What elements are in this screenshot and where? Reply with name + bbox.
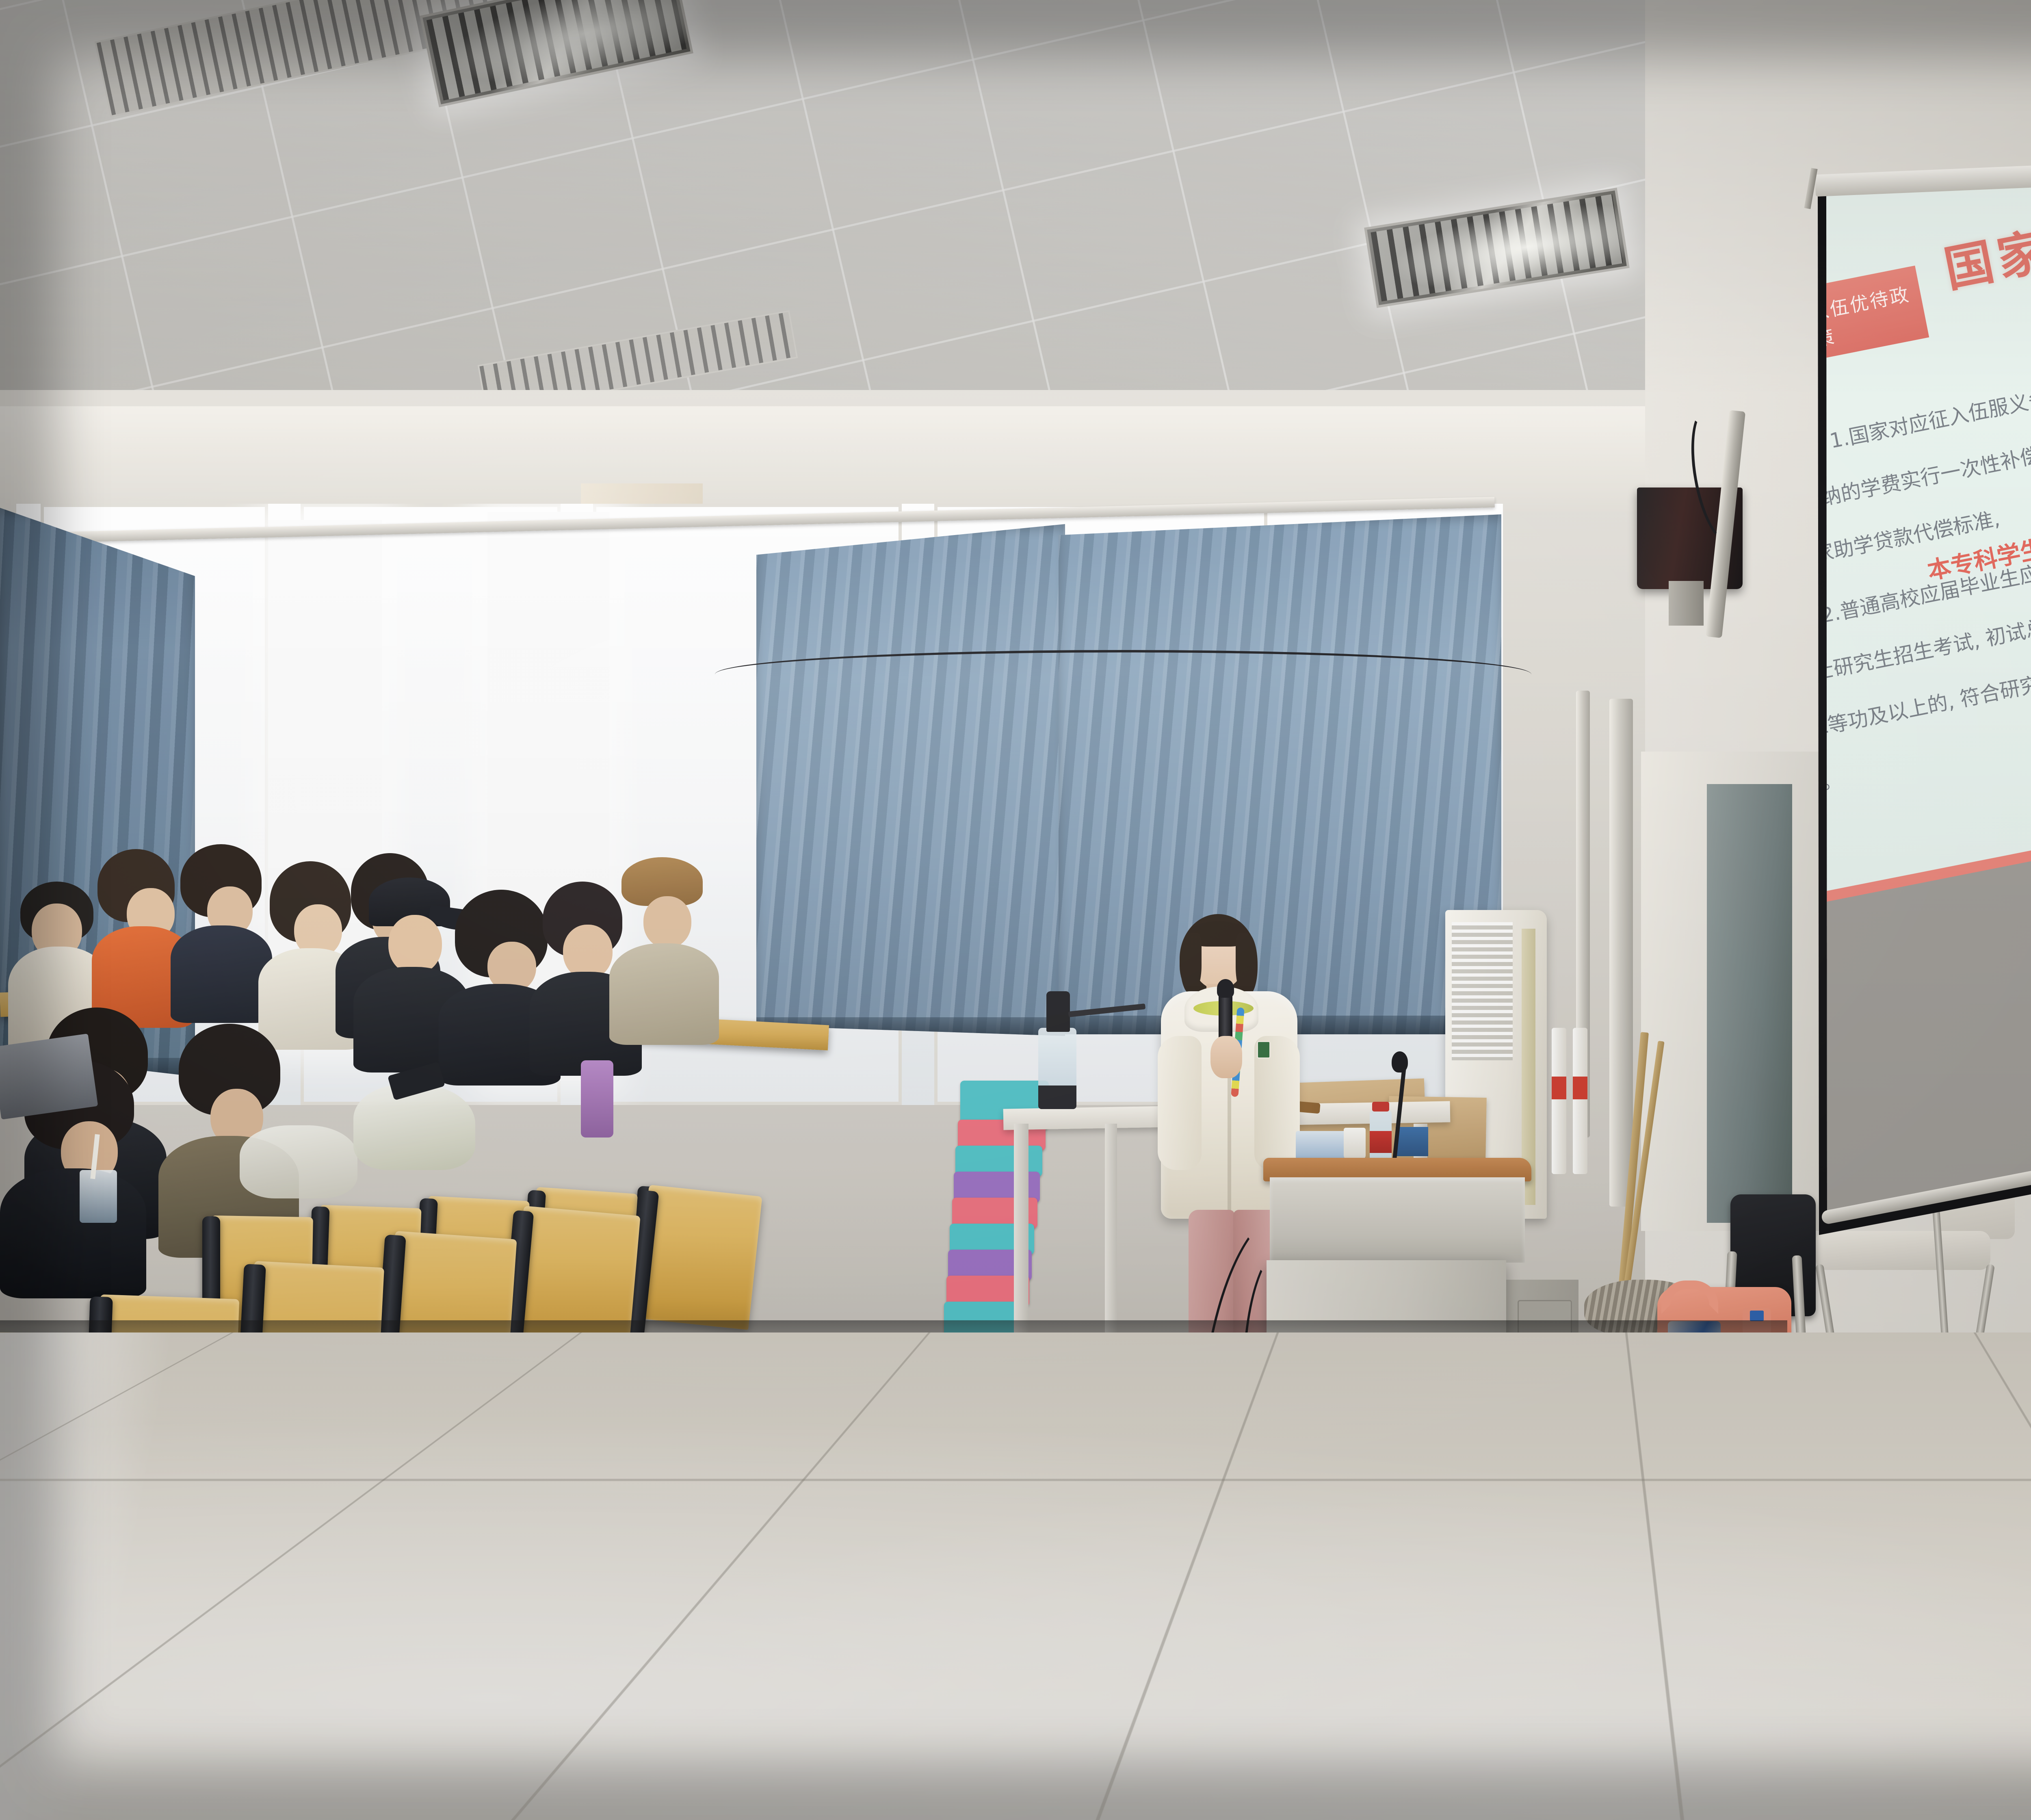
slide-title: 国家政策	[1938, 190, 2031, 301]
slide-section-tab: 入伍优待政策	[1795, 266, 1929, 361]
floor-reflection-sheen	[0, 1332, 2031, 1820]
table-leg	[1014, 1124, 1028, 1351]
extinguisher-label	[1552, 1077, 1566, 1099]
student-with-beret	[605, 857, 727, 1040]
fire-extinguisher	[1552, 1028, 1566, 1174]
floor	[0, 1332, 2031, 1820]
presenter-left-arm	[1158, 1036, 1202, 1170]
presenter-hair-right	[1236, 933, 1258, 996]
wall-upper-strip	[0, 406, 1747, 512]
paper-cup	[1344, 1128, 1366, 1159]
water-bottle-label	[1370, 1131, 1392, 1153]
classroom-photo-scene: 入伍优待政策 国家政策 1.国家对应征入伍服义务兵役的高校学生, 在入伍时对其在…	[0, 0, 2031, 1820]
air-conditioner-grille	[1452, 922, 1513, 1060]
spray-bottle-base	[1038, 1085, 1076, 1109]
hanging-cable	[715, 650, 1531, 699]
student-torso	[609, 943, 719, 1045]
water-bottle-cap	[1372, 1102, 1389, 1111]
fire-extinguisher	[1573, 1028, 1587, 1174]
screen-surface: 入伍优待政策 国家政策 1.国家对应征入伍服义务兵役的高校学生, 在入伍时对其在…	[1747, 146, 2031, 1536]
presenter-hair-left	[1180, 933, 1202, 994]
water-bottle	[581, 1060, 613, 1137]
tissue-box	[1296, 1131, 1348, 1159]
wall-pipe	[1609, 699, 1633, 1207]
presenter-badge	[1257, 1041, 1271, 1059]
extinguisher-label	[1573, 1077, 1587, 1099]
presenter-hands	[1210, 1036, 1242, 1078]
slide: 入伍优待政策 国家政策 1.国家对应征入伍服义务兵役的高校学生, 在入伍时对其在…	[1747, 146, 2031, 1536]
backpack-handle	[1661, 1280, 1718, 1314]
student-head	[388, 915, 442, 974]
table-leg	[1105, 1124, 1117, 1351]
spray-bottle-pump	[1046, 991, 1070, 1032]
microphone-head	[1217, 979, 1234, 998]
laptop-screen	[0, 1033, 98, 1120]
gooseneck-microphone-head	[1392, 1051, 1408, 1072]
student-head	[643, 896, 691, 948]
plastic-bag-with-food	[353, 1085, 475, 1170]
speaker-mount-bracket	[1669, 581, 1704, 626]
blue-box	[1396, 1127, 1428, 1156]
projection-screen: 入伍优待政策 国家政策 1.国家对应征入伍服义务兵役的高校学生, 在入伍时对其在…	[1747, 146, 2031, 1536]
